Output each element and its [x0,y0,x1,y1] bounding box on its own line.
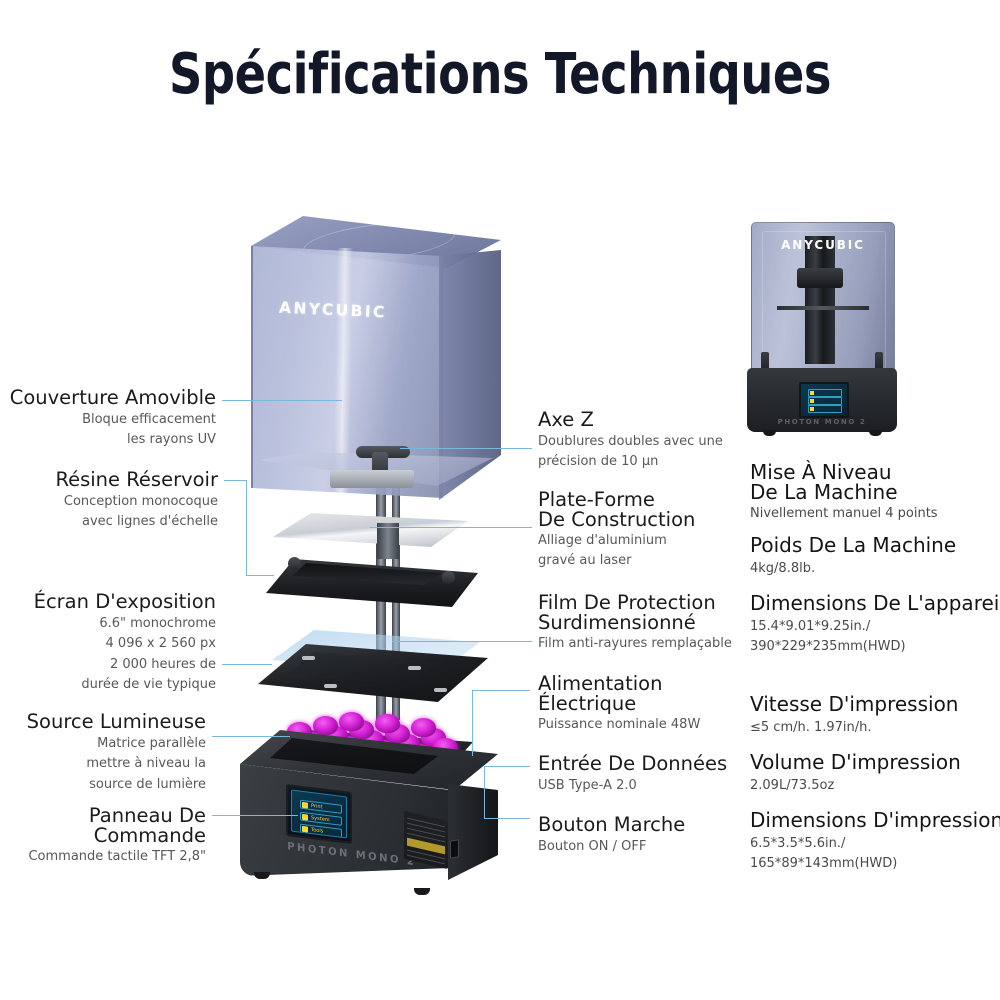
spec-heading: Dimensions De L'appareil [750,592,1000,616]
spec-value: 2.09L/73.5oz [750,777,961,795]
screen-menu-item-tools[interactable]: Tools [300,824,342,838]
callout-subline: gravé au laser [538,552,695,570]
callout-data-input: Entrée De Données USB Type-A 2.0 [538,752,727,795]
callout-power-button: Bouton Marche Bouton ON / OFF [538,813,685,856]
screen-menu-label: Tools [311,827,323,835]
build-plate-holder [330,470,414,488]
screen-tab-1 [302,656,315,660]
callout-heading: De Construction [538,510,695,530]
callout-heading: Couverture Amovible [0,386,216,409]
callout-subline: mettre à niveau la [0,755,206,773]
callout-subline: Bouton ON / OFF [538,838,685,856]
screen-menu-label: Print [311,803,323,810]
callout-removable-cover: Couverture Amovible Bloque efficacement … [0,386,216,450]
spec-value: 165*89*143mm(HWD) [750,855,1000,873]
leader-line-light-source [212,736,290,737]
spec-value: Nivellement manuel 4 points [750,505,938,523]
callout-light-source: Source Lumineuse Matrice parallèle mettr… [0,710,206,794]
mini-brand-label: ANYCUBIC [773,238,873,252]
mini-foot-left [763,430,776,436]
assembled-printer-illustration: ANYCUBIC PHOTON MONO 2 [747,222,897,444]
callout-subline: 2 000 heures de [0,656,216,674]
mini-foot-right [869,430,882,436]
leader-line-cover [222,400,342,401]
spec-print-volume: Volume D'impression 2.09L/73.5oz [750,751,961,795]
callout-heading: Résine Réservoir [0,468,218,491]
spec-print-speed: Vitesse D'impression ≤5 cm/h. 1.97in/h. [750,693,958,737]
base-foot [254,872,270,879]
callout-subline: durée de vie typique [0,676,216,694]
callout-subline: Conception monocoque [0,493,218,511]
callout-subline: les rayons UV [0,431,216,449]
leader-line-vat-h1 [224,480,246,481]
usb-data-port[interactable] [450,839,459,859]
callout-heading: Film De Protection [538,593,732,613]
callout-subline: Bloque efficacement [0,411,216,429]
spec-value: 6.5*3.5*5.6in./ [750,835,1000,853]
spec-heading: Vitesse D'impression [750,693,958,717]
mini-touchscreen[interactable] [799,382,849,418]
control-panel-touchscreen[interactable]: Print System Tools [286,784,352,844]
vat-thumbscrew-right [442,571,455,584]
printer-base-unit: Print System Tools PHOTON MONO 2 [234,730,504,890]
callout-heading: Bouton Marche [538,813,685,836]
spec-machine-weight: Poids De La Machine 4kg/8.8lb. [750,534,956,578]
screen-tab-2 [408,666,421,670]
vat-thumbscrew-left [288,557,301,570]
callout-subline: Commande tactile TFT 2,8" [0,848,206,866]
callout-subline: 6.6" monochrome [0,615,216,633]
callout-heading: Surdimensionné [538,613,732,633]
callout-subline: précision de 10 μn [538,453,723,471]
callout-build-platform: Plate-Forme De Construction Alliage d'al… [538,490,695,571]
mini-z-carriage [797,268,843,288]
leader-line-vat-v [246,480,247,575]
resin-vat [266,551,478,611]
callout-heading: Panneau De [0,806,206,826]
leader-line-z-axis [400,448,532,449]
spec-value: 4kg/8.8lb. [750,560,956,578]
spec-heading: Poids De La Machine [750,534,956,558]
build-platform [273,513,468,547]
callout-heading: Source Lumineuse [0,710,206,733]
callout-subline: source de lumière [0,776,206,794]
callout-heading: Axe Z [538,408,723,431]
rating-label-sticker [404,811,448,869]
leader-line-usb-h [484,766,530,767]
callout-control-panel: Panneau De Commande Commande tactile TFT… [0,806,206,866]
callout-subline: USB Type-A 2.0 [538,777,727,795]
leader-line-screen [222,664,272,665]
base-foot [414,888,430,895]
spec-machine-dimensions: Dimensions De L'appareil 15.4*9.01*9.25i… [750,592,1000,657]
leader-line-build-plate [370,527,532,528]
callout-protective-film: Film De Protection Surdimensionné Film a… [538,593,732,653]
leader-line-power-button [484,818,530,819]
leader-line-vat-h2 [246,575,274,576]
leader-line-power-v [472,690,473,756]
spec-heading: De La Machine [750,482,938,502]
spec-print-dimensions: Dimensions D'impression 6.5*3.5*5.6in./ … [750,809,1000,874]
callout-subline: avec lignes d'échelle [0,513,218,531]
callout-subline: Doublures doubles avec une [538,433,723,451]
callout-subline: Alliage d'aluminium [538,532,695,550]
callout-heading: Plate-Forme [538,490,695,510]
callout-heading: Électrique [538,694,700,714]
screen-menu-label: System [311,815,330,823]
spec-heading: Dimensions D'impression [750,809,1000,833]
screen-tab-4 [434,688,447,692]
mini-base-unit: PHOTON MONO 2 [747,368,897,432]
spec-value: ≤5 cm/h. 1.97in/h. [750,719,958,737]
leader-line-power-h [472,690,530,691]
spec-machine-leveling: Mise À Niveau De La Machine Nivellement … [750,462,938,523]
callout-heading: Commande [0,826,206,846]
mini-build-arm [777,306,869,310]
page-title: Spécifications Techniques [40,42,960,107]
screen-tab-3 [324,684,337,688]
spec-heading: Mise À Niveau [750,462,938,482]
callout-exposure-screen: Écran D'exposition 6.6" monochrome 4 096… [0,590,216,695]
spec-value: 15.4*9.01*9.25in./ [750,618,1000,636]
callout-z-axis: Axe Z Doublures doubles avec une précisi… [538,408,723,472]
callout-subline: Puissance nominale 48W [538,716,700,734]
callout-subline: Film anti-rayures remplaçable [538,635,732,653]
callout-power-supply: Alimentation Électrique Puissance nomina… [538,674,700,734]
spec-value: 390*229*235mm(HWD) [750,638,1000,656]
spec-sheet-page: Spécifications Techniques ANYCUBIC [0,0,1000,1000]
callout-heading: Écran D'exposition [0,590,216,613]
mini-z-tower [805,236,835,364]
tools-icon [302,826,308,833]
callout-heading: Entrée De Données [538,752,727,775]
led-unit [339,712,364,731]
leader-line-control-panel [212,815,298,816]
callout-resin-vat: Résine Réservoir Conception monocoque av… [0,468,218,532]
callout-subline: 4 096 x 2 560 px [0,635,216,653]
spec-heading: Volume D'impression [750,751,961,775]
touchscreen-display: Print System Tools [291,790,347,839]
leader-line-usb-v [484,766,485,818]
leader-line-film [392,641,532,642]
base-side-panel [448,784,498,880]
callout-heading: Alimentation [538,674,700,694]
system-icon [302,814,308,821]
print-icon [302,802,308,809]
mini-base-brand-label: PHOTON MONO 2 [771,418,873,426]
callout-subline: Matrice parallèle [0,735,206,753]
exposure-screen [258,644,488,706]
